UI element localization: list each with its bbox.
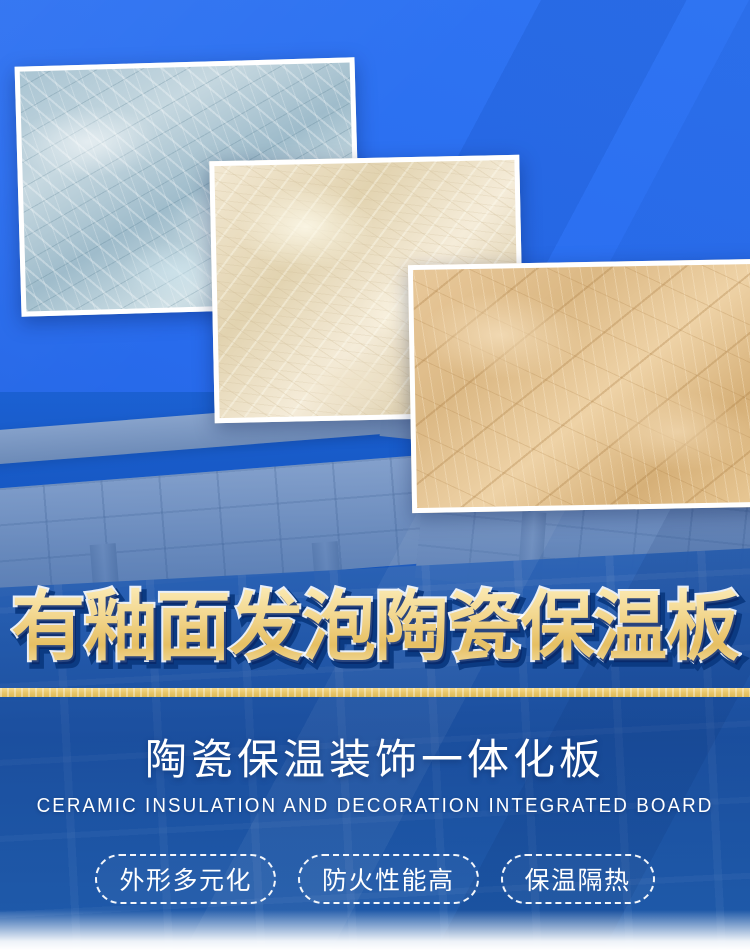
bottom-white-fade xyxy=(0,910,750,950)
feature-badge-1[interactable]: 外形多元化 xyxy=(95,854,276,904)
gold-divider-rule xyxy=(0,688,750,697)
product-banner: 有釉面发泡陶瓷保温板 有釉面发泡陶瓷保温板 有釉面发泡陶瓷保温板 陶瓷保温装饰一… xyxy=(0,0,750,950)
feature-badge-2[interactable]: 防火性能高 xyxy=(298,854,479,904)
tile-sample-tan-marble xyxy=(408,259,750,513)
feature-badge-3[interactable]: 保温隔热 xyxy=(501,854,655,904)
page-title: 有釉面发泡陶瓷保温板 xyxy=(11,586,739,668)
subtitle-english: CERAMIC INSULATION AND DECORATION INTEGR… xyxy=(23,793,728,819)
subtitle-chinese: 陶瓷保温装饰一体化板 xyxy=(0,735,750,785)
feature-badge-list: 外形多元化 防火性能高 保温隔热 xyxy=(0,854,750,904)
